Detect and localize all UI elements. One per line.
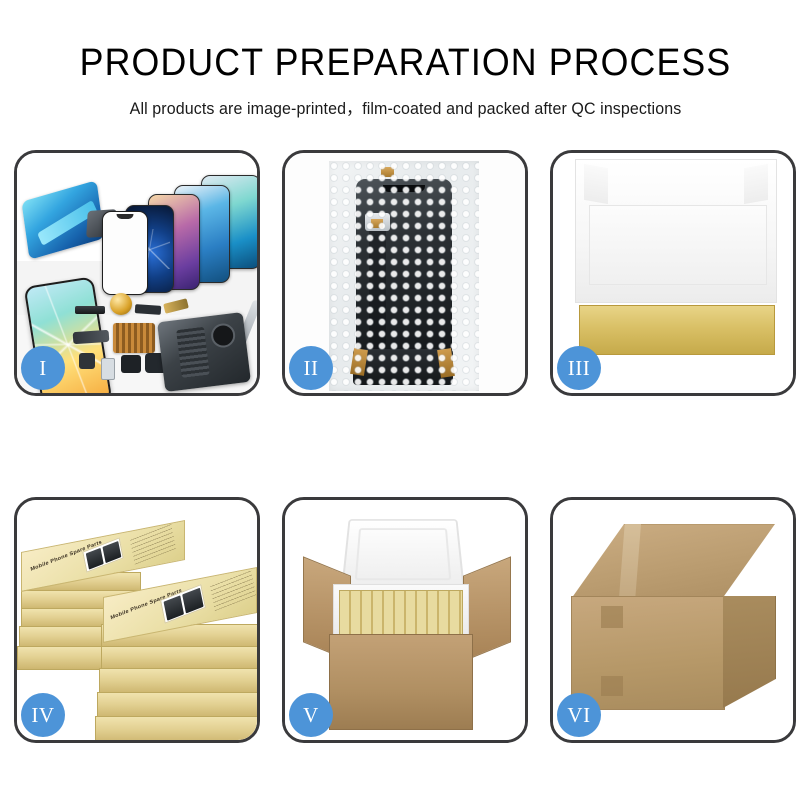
flex-cable-part-3 [163, 298, 189, 314]
process-step-card-1: I [14, 150, 260, 396]
small-part-6 [135, 304, 162, 315]
connector-bar-part [75, 306, 105, 314]
foam-lid [341, 519, 465, 592]
gold-box-front-6 [95, 716, 257, 740]
step-badge-3: III [557, 346, 601, 390]
carton-top-face [571, 524, 775, 599]
small-part-1 [79, 353, 95, 369]
gold-box-rear-artwork [82, 537, 123, 572]
lid-flap-right [744, 164, 768, 204]
step-badge-1: I [21, 346, 65, 390]
page-title: PRODUCT PREPARATION PROCESS [24, 44, 786, 84]
tape-bottom-left [350, 348, 368, 376]
process-step-card-4: Mobile Phone Spare Parts Mobile Phone Sp… [14, 497, 260, 743]
phone-display-1 [102, 211, 148, 295]
small-part-2 [101, 358, 115, 380]
process-step-card-5: V [282, 497, 528, 743]
carton-tab-lower [601, 676, 623, 696]
contact-pad-part [113, 323, 155, 353]
step-badge-4: IV [21, 693, 65, 737]
coil-part-icon [110, 293, 132, 315]
process-step-card-2: II [282, 150, 528, 396]
foam-sheet [589, 205, 767, 285]
screen-flex-cable [369, 221, 386, 361]
page-subtitle: All products are image-printed，film-coat… [12, 95, 799, 119]
gold-box-rear-spec-lines [130, 524, 176, 565]
small-part-3 [121, 355, 141, 373]
gold-box-front-5 [97, 692, 257, 718]
bubble-wrap-bag [329, 161, 479, 391]
step-badge-6: VI [557, 693, 601, 737]
film-strip [37, 200, 97, 246]
carton-tab-upper [601, 606, 623, 628]
page-header: PRODUCT PREPARATION PROCESS All products… [0, 0, 811, 119]
screen-bottom-components [353, 349, 453, 385]
gold-box-front-3 [101, 646, 257, 670]
step-badge-2: II [289, 346, 333, 390]
tape-middle [371, 219, 383, 228]
carton-body [329, 634, 473, 730]
step-badge-5: V [289, 693, 333, 737]
flex-cable-part-1 [73, 330, 110, 344]
lid-flap-left [584, 164, 608, 204]
gold-box-front-4 [99, 668, 257, 694]
wrapped-screen [356, 179, 452, 379]
flex-connector [365, 213, 390, 231]
phone-back-housing [157, 312, 251, 392]
gold-boxes-in-carton [339, 590, 463, 636]
process-steps-grid: I II I [14, 150, 797, 743]
gold-box-front-spec-lines [210, 570, 256, 611]
carton-side-face [723, 596, 776, 708]
tape-bottom-right [437, 348, 455, 378]
tape-top [381, 167, 394, 177]
carton-front-face [571, 596, 725, 710]
gold-box-front-artwork [160, 584, 206, 624]
process-step-card-6: VI [550, 497, 796, 743]
gold-box-base [579, 305, 775, 355]
camera-module-icon [210, 322, 237, 349]
process-step-card-3: III [550, 150, 796, 396]
